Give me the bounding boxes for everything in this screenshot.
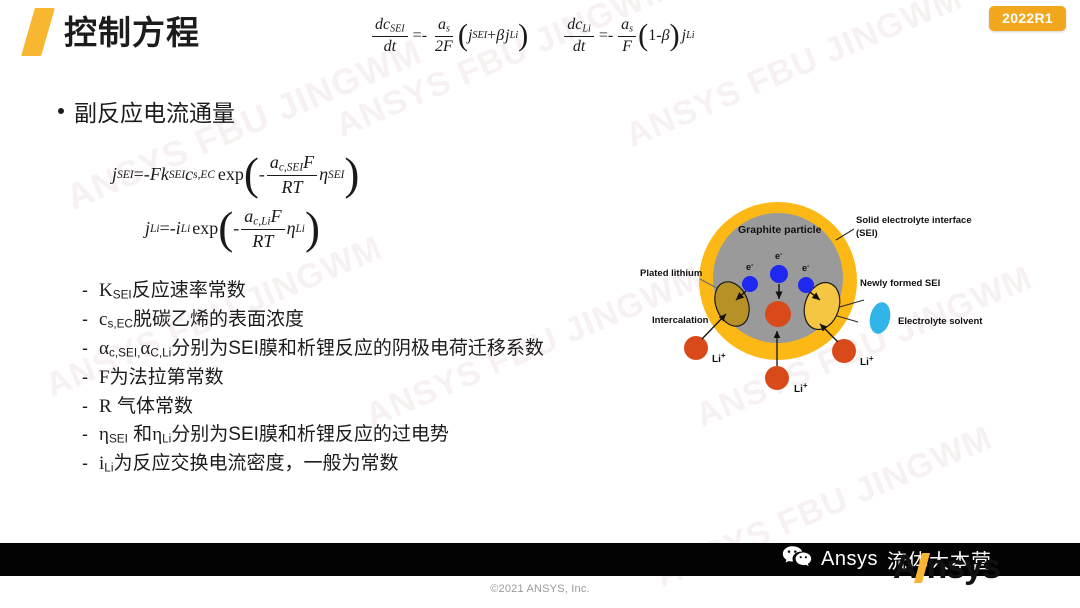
- dash-marker: -: [82, 450, 88, 477]
- eq-paren: ): [305, 215, 320, 242]
- symbol-sub: SEI: [113, 289, 132, 302]
- symbol: K: [99, 280, 113, 301]
- symbol: F: [99, 367, 110, 388]
- definition-text: 分别为SEI膜和析锂反应的阴极电荷迁移系数: [171, 338, 544, 359]
- eq-term: a: [621, 16, 629, 33]
- equation-dc-sei: dcSEI dt =- as 2F ( jSEI + β jLi ): [370, 16, 528, 56]
- eq-sub: SEI: [390, 23, 405, 34]
- definition-text-secondary: 分别为SEI膜和析锂反应的过电势: [171, 424, 449, 445]
- list-item: - ηSEI 和ηLi分别为SEI膜和析锂反应的过电势: [82, 421, 544, 450]
- symbol-sub: c,SEI,: [109, 346, 140, 359]
- lithium-ion-dot: [684, 336, 708, 360]
- eq-term: k: [161, 164, 169, 185]
- symbol-sub: SEI: [109, 433, 128, 446]
- symbol: R: [99, 396, 112, 417]
- eq-operator: +: [487, 27, 496, 45]
- electron-dot: [798, 277, 814, 293]
- eq-operator: =-: [599, 27, 613, 45]
- definition-text: 气体常数: [112, 396, 193, 417]
- eq-sub: SEI: [169, 169, 185, 181]
- slide-canvas: ANSYS FBU JINGWM ANSYS FBU JINGWM ANSYS …: [0, 0, 1080, 608]
- eq-operator: =-: [413, 27, 427, 45]
- definition-text: 为反应交换电流密度，一般为常数: [113, 453, 398, 474]
- eq-term: a: [270, 152, 279, 172]
- symbol-sub-secondary: C,Li: [150, 346, 171, 359]
- eq-paren: (: [244, 161, 259, 188]
- definition-text: 和: [128, 424, 152, 445]
- definition-text: 反应速率常数: [132, 280, 246, 301]
- electron-dot: [742, 276, 758, 292]
- bullet-dot-icon: [58, 108, 64, 114]
- equation-dc-li: dcLi dt =- as F ( 1- β ) jLi: [562, 16, 694, 56]
- list-item: - cs,EC脱碳乙烯的表面浓度: [82, 306, 544, 335]
- bullet-label: 副反应电流通量: [74, 94, 235, 128]
- eq-term: dt: [570, 37, 588, 56]
- ansys-logo-right: nsys: [927, 548, 1001, 587]
- eq-term: F: [150, 164, 161, 185]
- eq-operator: =-: [160, 218, 176, 239]
- top-equations: dcSEI dt =- as 2F ( jSEI + β jLi ) dcLi …: [370, 16, 695, 56]
- eq-operator: -: [259, 164, 265, 185]
- newly-formed-sei-label: Newly formed SEI: [860, 278, 940, 289]
- eq-term: β: [496, 27, 504, 45]
- eq-sup: Li: [510, 30, 519, 41]
- eq-function: exp: [218, 164, 244, 185]
- symbol: η: [99, 424, 109, 445]
- eq-sub: Li: [582, 23, 590, 34]
- ion-label: Li+: [860, 354, 874, 368]
- eq-term: F: [619, 37, 635, 56]
- dash-marker: -: [82, 364, 88, 391]
- eq-sup: SEI: [472, 30, 487, 41]
- lithium-ion-dot: [832, 339, 856, 363]
- eq-sup: SEI: [117, 169, 134, 181]
- eq-term: RT: [278, 176, 305, 197]
- sei-particle-diagram: e- e- e- Li+ Li+: [640, 196, 1080, 411]
- brand-label: Ansys: [821, 548, 878, 571]
- electrolyte-solvent-shape: [867, 300, 893, 335]
- definition-list: - KSEI反应速率常数 - cs,EC脱碳乙烯的表面浓度 - αc,SEI,α…: [82, 277, 544, 479]
- eq-function: exp: [192, 218, 218, 239]
- eq-sub: s: [446, 23, 450, 34]
- eq-sub: SEI: [328, 169, 344, 181]
- list-item: - F为法拉第常数: [82, 364, 544, 393]
- version-badge: 2022R1: [989, 6, 1066, 31]
- lithium-ion-core: [765, 301, 791, 327]
- equation-j-sei: jSEI =- F kSEI cs,EC exp ( - ac,SEIF RT …: [112, 152, 359, 198]
- eq-paren: (: [458, 25, 468, 46]
- symbol-secondary: α: [140, 338, 150, 359]
- page-title: 控制方程: [28, 8, 200, 56]
- eq-term: F: [271, 206, 282, 226]
- eq-sup: Li: [150, 223, 160, 235]
- eq-sub: Li: [181, 223, 190, 235]
- title-accent-slash-icon: [21, 8, 55, 56]
- definition-text: 为法拉第常数: [110, 367, 224, 388]
- sei-label-line2: (SEI): [856, 228, 878, 239]
- eq-term: F: [303, 152, 314, 172]
- eq-term: η: [319, 164, 328, 185]
- eq-sub: s: [629, 23, 633, 34]
- eq-paren: ): [518, 25, 528, 46]
- eq-paren: ): [344, 161, 359, 188]
- eq-operator: =-: [134, 164, 150, 185]
- title-label: 控制方程: [64, 16, 200, 49]
- eq-sub: c,SEI: [279, 162, 303, 174]
- ansys-logo-overlay: A nsys: [893, 548, 1000, 587]
- eq-paren: (: [638, 25, 648, 46]
- eq-operator: 1-: [648, 27, 661, 45]
- symbol-secondary: η: [152, 424, 162, 445]
- dash-marker: -: [82, 335, 88, 362]
- eq-term: RT: [249, 230, 276, 251]
- symbol-sub: s,EC: [107, 317, 133, 330]
- eq-term: β: [662, 27, 670, 45]
- list-item: - αc,SEI,αC,Li分别为SEI膜和析锂反应的阴极电荷迁移系数: [82, 335, 544, 364]
- definition-text: 脱碳乙烯的表面浓度: [133, 309, 304, 330]
- bullet-sub-reaction-flux: 副反应电流通量: [58, 94, 235, 128]
- eq-term: c: [185, 164, 193, 185]
- eq-paren: ): [670, 25, 680, 46]
- list-item: - R 气体常数: [82, 393, 544, 422]
- eq-term: dt: [381, 37, 399, 56]
- plated-lithium-label: Plated lithium: [640, 268, 702, 279]
- eq-term: η: [287, 218, 296, 239]
- equation-j-li: jLi =- iLi exp ( - ac,LiF RT ηLi ): [145, 206, 320, 252]
- graphite-particle-label: Graphite particle: [738, 224, 822, 236]
- list-item: - iLi为反应交换电流密度，一般为常数: [82, 450, 544, 479]
- eq-sup: Li: [686, 30, 695, 41]
- eq-term: a: [244, 206, 253, 226]
- ion-label: Li+: [712, 351, 726, 365]
- dash-marker: -: [82, 393, 88, 420]
- intercalation-label: Intercalation: [652, 315, 709, 326]
- dash-marker: -: [82, 421, 88, 448]
- sei-label-line1: Solid electrolyte interface: [856, 215, 972, 226]
- symbol-sub-secondary: Li: [162, 433, 171, 446]
- dash-marker: -: [82, 306, 88, 333]
- eq-term: dc: [567, 16, 582, 33]
- eq-sub: c,Li: [253, 216, 270, 228]
- ion-label: Li+: [794, 381, 808, 395]
- ansys-logo-left: A: [893, 548, 917, 587]
- electrolyte-solvent-label: Electrolyte solvent: [898, 316, 983, 327]
- list-item: - KSEI反应速率常数: [82, 277, 544, 306]
- eq-operator: -: [233, 218, 239, 239]
- symbol: α: [99, 338, 109, 359]
- eq-term: a: [438, 16, 446, 33]
- electron-dot: [770, 265, 788, 283]
- lithium-ion-dot: [765, 366, 789, 390]
- wechat-icon: [782, 545, 812, 574]
- eq-paren: (: [218, 215, 233, 242]
- eq-term: dc: [375, 16, 390, 33]
- eq-sub: s,EC: [193, 169, 215, 181]
- eq-term: 2F: [432, 37, 456, 56]
- dash-marker: -: [82, 277, 88, 304]
- eq-sub: Li: [296, 223, 305, 235]
